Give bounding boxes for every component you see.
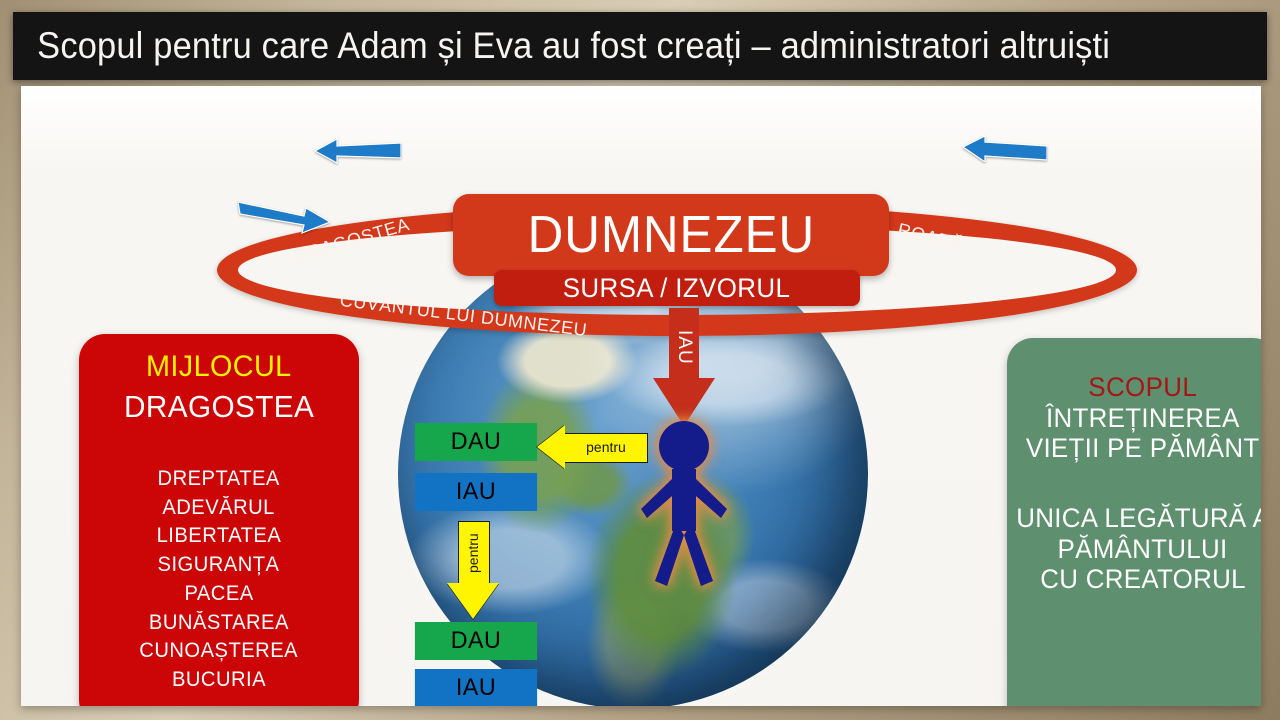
title-bar: Scopul pentru care Adam și Eva au fost c… [13, 12, 1267, 80]
take-box-1: IAU [415, 473, 537, 511]
take-box-2: IAU [415, 669, 537, 706]
list-item: ADEVĂRUL [163, 494, 276, 522]
receive-arrow-label: IAU [669, 312, 699, 382]
slide-root: Scopul pentru care Adam și Eva au fost c… [0, 0, 1280, 720]
give-box-1: DAU [415, 423, 537, 461]
panel-mijlocul-heading: MIJLOCUL [146, 350, 292, 384]
panel-scopul-line: PĂMÂNTULUI [1058, 534, 1228, 564]
panel-mijlocul-subheading: DRAGOSTEA [124, 389, 314, 425]
list-item: PACEA [184, 580, 253, 608]
panel-mijlocul: MIJLOCUL DRAGOSTEA DREPTATEA ADEVĂRUL LI… [79, 334, 359, 706]
list-item: BUCURIA [172, 666, 266, 694]
ring-arrow-left-icon [315, 138, 401, 164]
list-item: LIBERTATEA [157, 522, 282, 550]
god-box-label: DUMNEZEU [527, 205, 815, 265]
god-box: DUMNEZEU [453, 194, 889, 276]
list-item: CUNOAȘTEREA [140, 637, 299, 665]
list-item: BUNĂSTAREA [149, 609, 289, 637]
pentru-arrow-down-label: pentru [458, 523, 488, 583]
arrow-head [537, 425, 565, 469]
slide-canvas: DRAGOSTEA ROADĂ CUVÂNTUL LUI DUMNEZEU DU… [21, 86, 1261, 706]
page-title: Scopul pentru care Adam și Eva au fost c… [13, 25, 1110, 67]
give-box-2: DAU [415, 622, 537, 660]
panel-scopul-line: CU CREATORUL [1040, 564, 1246, 594]
source-box: SURSA / IZVORUL [494, 270, 860, 306]
panel-scopul-line: ÎNTREȚINEREA [1046, 403, 1240, 433]
panel-scopul-heading: SCOPUL [1089, 372, 1198, 403]
list-item: DREPTATEA [158, 465, 280, 493]
arrow-head [447, 583, 499, 619]
panel-scopul: SCOPUL ÎNTREȚINEREA VIEȚII PE PĂMÂNT UNI… [1007, 338, 1261, 706]
source-box-label: SURSA / IZVORUL [563, 273, 791, 304]
pentru-arrow-down-icon: pentru [447, 521, 499, 623]
receive-arrow-down-icon: IAU [653, 308, 715, 426]
ring-arrow-bottom-icon [238, 200, 330, 234]
ring-arrow-right-icon [963, 136, 1047, 162]
panel-scopul-line: VIEȚII PE PĂMÂNT [1026, 433, 1260, 463]
list-item: SIGURANȚA [158, 551, 280, 579]
panel-scopul-line: UNICA LEGĂTURĂ A [1016, 503, 1261, 533]
pentru-arrow-left-icon: pentru [537, 425, 647, 469]
person-figure-icon [633, 419, 735, 589]
pentru-arrow-left-label: pentru [569, 434, 643, 460]
panel-mijlocul-list: DREPTATEA ADEVĂRUL LIBERTATEA SIGURANȚA … [136, 465, 301, 694]
